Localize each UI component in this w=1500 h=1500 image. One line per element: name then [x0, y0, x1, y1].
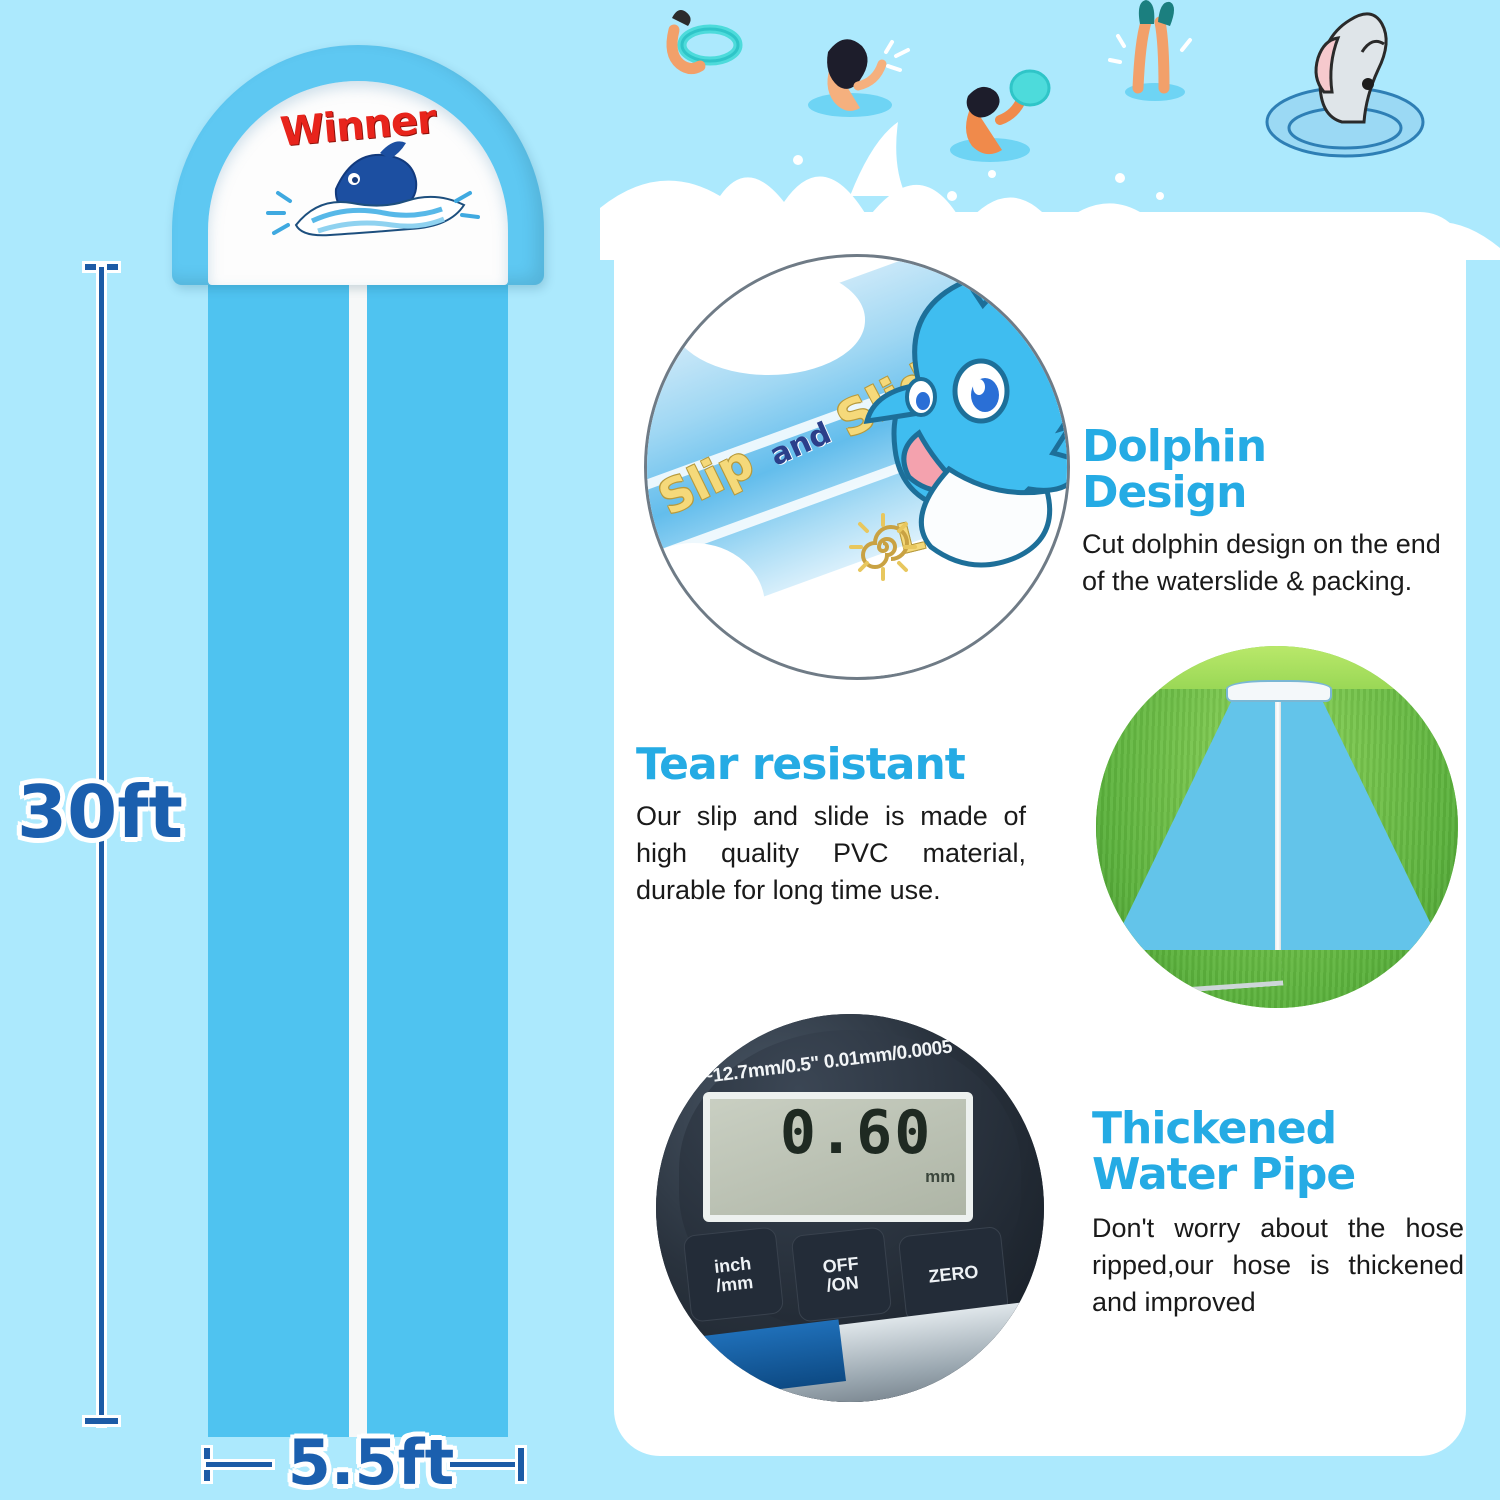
slide-on-lawn-photo — [1096, 646, 1458, 1008]
feature-thickened-water-pipe: Thickened Water Pipe Don't worry about t… — [1092, 1106, 1464, 1321]
dimension-horizontal-right — [450, 1462, 520, 1467]
lawn-center-hose — [1275, 689, 1281, 950]
dimension-cap-right — [518, 1448, 524, 1481]
features-panel: Slip and Slide Let's — [614, 212, 1466, 1456]
swimmer-with-float-icon — [672, 10, 738, 69]
dolphin-character-icon — [799, 263, 1070, 663]
caliper-off-on-button[interactable]: OFF /ON — [790, 1227, 892, 1324]
slide-lane-right — [367, 277, 508, 1437]
slide-lane-left — [208, 277, 349, 1437]
feature-tear-resistant: Tear resistant Our slip and slide is mad… — [636, 742, 1026, 908]
slide-mat — [208, 277, 508, 1437]
feature-body-thickened-water-pipe: Don't worry about the hose ripped,our ho… — [1092, 1210, 1464, 1320]
diver-legs-icon — [1110, 0, 1190, 101]
feature-body-tear-resistant: Our slip and slide is made of high quali… — [636, 798, 1026, 908]
caliper-inch-mm-button[interactable]: inch /mm — [683, 1227, 785, 1324]
swimmer-with-ball-icon — [950, 71, 1049, 162]
caliper-lcd-screen: 0.60 mm — [703, 1092, 973, 1222]
lawn-splash-pool — [1226, 680, 1331, 702]
caliper-button-row: inch /mm OFF /ON ZERO — [687, 1231, 1013, 1316]
product-diagram: Winner — [160, 45, 560, 1445]
swimmer-woman-icon — [808, 39, 908, 117]
slide-center-hose-stripe — [349, 277, 367, 1437]
winner-brand-logo: Winner — [208, 97, 508, 247]
caliper-zero-line1: ZERO — [902, 1260, 1004, 1289]
feature-title-thickened-line1: Thickened — [1092, 1106, 1464, 1152]
dolphin-design-image: Slip and Slide Let's — [644, 254, 1070, 680]
slide-splash-pool: Winner — [172, 45, 544, 285]
caliper-unit: mm — [925, 1167, 955, 1187]
dolphin-wave-logo-icon — [208, 97, 508, 247]
infographic-canvas: Winner 30ft — [0, 0, 1500, 1500]
feature-body-dolphin-design: Cut dolphin design on the end of the wat… — [1082, 526, 1444, 599]
digital-caliper-photo: 0~12.7mm/0.5" 0.01mm/0.0005" 0.60 mm inc… — [656, 1014, 1044, 1402]
dolphin-icon — [1267, 14, 1423, 156]
feature-title-thickened-line2: Water Pipe — [1092, 1152, 1464, 1198]
width-dimension-line: 5.5ft — [180, 1418, 560, 1494]
feature-title-dolphin-design: Dolphin Design — [1082, 424, 1444, 516]
caliper-reading: 0.60 — [780, 1103, 933, 1163]
dimension-cap-bottom — [85, 1418, 118, 1424]
feature-dolphin-design: Dolphin Design Cut dolphin design on the… — [1082, 424, 1444, 600]
length-label: 30ft — [0, 770, 200, 854]
feature-title-tear-resistant: Tear resistant — [636, 742, 1026, 788]
